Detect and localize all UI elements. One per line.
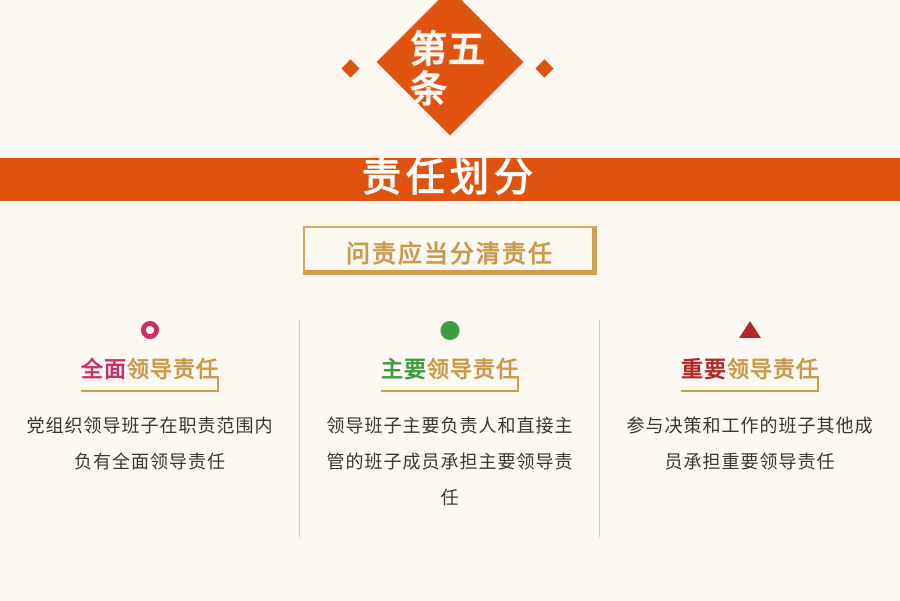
heading-bracket-tick-3 xyxy=(817,376,819,392)
column-heading-wrap-3: 重要领导责任 xyxy=(600,352,900,392)
header-badge-area: 第五条 xyxy=(0,0,900,158)
page-title: 责任划分 xyxy=(0,155,900,203)
column-heading-rest-2: 领导责任 xyxy=(427,357,519,382)
heading-bracket-tick-2 xyxy=(517,376,519,392)
column-important-responsibility: 重要领导责任 参与决策和工作的班子其他成员承担重要领导责任 xyxy=(600,305,900,545)
triangle-marker-icon xyxy=(739,321,761,338)
column-heading-rest-1: 领导责任 xyxy=(127,357,219,382)
column-heading-1: 全面领导责任 xyxy=(81,352,219,392)
ring-marker-icon xyxy=(141,321,159,339)
diamond-accent-icon-right xyxy=(535,59,553,77)
column-body-3: 参与决策和工作的班子其他成员承担重要领导责任 xyxy=(600,408,900,480)
column-body-1: 党组织领导班子在职责范围内负有全面领导责任 xyxy=(0,408,300,480)
subtitle-label: 问责应当分清责任 xyxy=(303,228,597,274)
column-heading-2: 主要领导责任 xyxy=(381,352,519,392)
column-heading-3: 重要领导责任 xyxy=(681,352,819,392)
responsibility-columns: 全面领导责任 党组织领导班子在职责范围内负有全面领导责任 主要领导责任 领导班子… xyxy=(0,305,900,545)
column-main-responsibility: 主要领导责任 领导班子主要负责人和直接主管的班子成员承担主要领导责任 xyxy=(300,305,600,545)
dot-marker-icon xyxy=(441,321,460,340)
column-heading-accent-1: 全面 xyxy=(81,357,127,382)
column-body-2: 领导班子主要负责人和直接主管的班子成员承担主要领导责任 xyxy=(300,408,600,516)
heading-bracket-tick-1 xyxy=(217,376,219,392)
diamond-accent-icon-left xyxy=(341,59,359,77)
column-heading-wrap-1: 全面领导责任 xyxy=(0,352,300,392)
article-badge-label: 第五条 xyxy=(410,2,490,140)
column-heading-rest-3: 领导责任 xyxy=(727,357,819,382)
column-heading-wrap-2: 主要领导责任 xyxy=(300,352,600,392)
column-heading-accent-2: 主要 xyxy=(381,357,427,382)
column-heading-accent-3: 重要 xyxy=(681,357,727,382)
column-overall-responsibility: 全面领导责任 党组织领导班子在职责范围内负有全面领导责任 xyxy=(0,305,300,545)
